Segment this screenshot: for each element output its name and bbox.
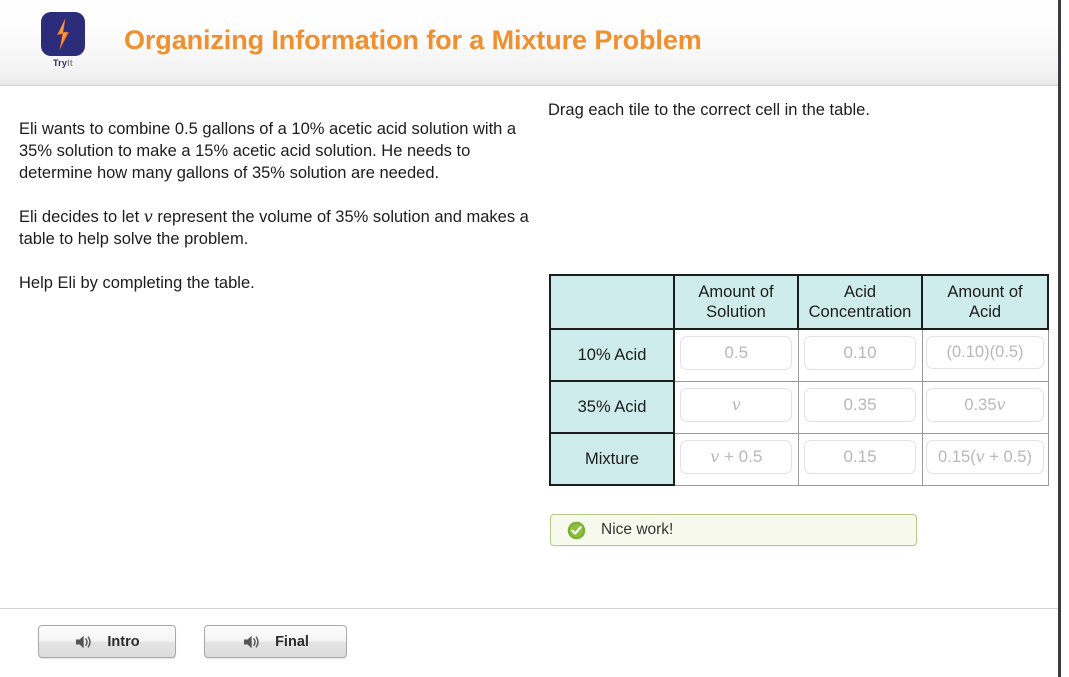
header-line-1: Amount of xyxy=(923,282,1047,302)
row-label-35-acid: 35% Acid xyxy=(550,381,674,433)
drop-cell-r0c1[interactable]: 0.10 xyxy=(798,329,922,381)
paragraph-2-text-a: Eli decides to let xyxy=(19,208,144,226)
intro-audio-button[interactable]: Intro xyxy=(38,625,176,658)
lightning-bolt-icon xyxy=(41,12,85,56)
tile-r0c2[interactable]: (0.10)(0.5) xyxy=(926,336,1044,369)
tile-r1c1[interactable]: 0.35 xyxy=(804,388,916,422)
speaker-icon xyxy=(74,633,96,651)
table-row: 35% Acid v 0.35 0.35v xyxy=(550,381,1048,433)
variable-v: v xyxy=(144,207,153,226)
problem-statement: Eli wants to combine 0.5 gallons of a 10… xyxy=(19,118,529,294)
drop-cell-r0c0[interactable]: 0.5 xyxy=(674,329,798,381)
header-cell-acid-concentration: Acid Concentration xyxy=(798,275,922,329)
page-header: TryIt Organizing Information for a Mixtu… xyxy=(0,0,1058,86)
check-circle-icon xyxy=(567,521,586,540)
header-line-1: Amount of xyxy=(675,282,797,302)
header-cell-blank xyxy=(550,275,674,329)
tile-r0c1[interactable]: 0.10 xyxy=(804,336,916,370)
table-row: Mixture v + 0.5 0.15 0.15(v + 0.5) xyxy=(550,433,1048,485)
row-label-10-acid: 10% Acid xyxy=(550,329,674,381)
logo-caption-try: Try xyxy=(53,58,67,68)
tile-r1c2[interactable]: 0.35v xyxy=(926,388,1044,422)
feedback-message: Nice work! xyxy=(601,521,673,539)
logo-caption-it: It xyxy=(67,58,73,68)
drop-cell-r0c2[interactable]: (0.10)(0.5) xyxy=(922,329,1048,381)
try-it-logo: TryIt xyxy=(39,12,87,68)
footer-divider xyxy=(0,608,1058,609)
intro-button-label: Intro xyxy=(107,634,139,650)
drop-cell-r1c0[interactable]: v xyxy=(674,381,798,433)
row-label-mixture: Mixture xyxy=(550,433,674,485)
tile-r0c0[interactable]: 0.5 xyxy=(680,336,792,370)
final-audio-button[interactable]: Final xyxy=(204,625,347,658)
header-line-2: Solution xyxy=(675,302,797,322)
drop-cell-r2c2[interactable]: 0.15(v + 0.5) xyxy=(922,433,1048,485)
problem-paragraph-3: Help Eli by completing the table. xyxy=(19,272,529,294)
tile-r1c0[interactable]: v xyxy=(680,388,792,422)
header-cell-amount-of-acid: Amount of Acid xyxy=(922,275,1048,329)
problem-paragraph-1: Eli wants to combine 0.5 gallons of a 10… xyxy=(19,118,529,184)
tile-r2c1[interactable]: 0.15 xyxy=(804,440,916,474)
header-line-2: Concentration xyxy=(799,302,921,322)
tile-r2c2[interactable]: 0.15(v + 0.5) xyxy=(926,440,1044,474)
feedback-banner: Nice work! xyxy=(550,514,917,546)
mixture-table: Amount of Solution Acid Concentration Am… xyxy=(549,274,1049,486)
table-row: 10% Acid 0.5 0.10 (0.10)(0.5) xyxy=(550,329,1048,381)
header-cell-amount-of-solution: Amount of Solution xyxy=(674,275,798,329)
tile-r2c0[interactable]: v + 0.5 xyxy=(680,440,792,474)
table-header-row: Amount of Solution Acid Concentration Am… xyxy=(550,275,1048,329)
drop-cell-r1c1[interactable]: 0.35 xyxy=(798,381,922,433)
page-title: Organizing Information for a Mixture Pro… xyxy=(124,25,702,56)
final-button-label: Final xyxy=(275,634,309,650)
header-line-1: Acid xyxy=(799,282,921,302)
logo-caption: TryIt xyxy=(39,58,87,68)
drop-cell-r2c0[interactable]: v + 0.5 xyxy=(674,433,798,485)
activity-page: TryIt Organizing Information for a Mixtu… xyxy=(0,0,1061,677)
speaker-icon xyxy=(242,633,264,651)
drag-instruction: Drag each tile to the correct cell in th… xyxy=(548,101,870,120)
problem-paragraph-2: Eli decides to let v represent the volum… xyxy=(19,206,529,250)
header-line-2: Acid xyxy=(923,302,1047,322)
drop-cell-r2c1[interactable]: 0.15 xyxy=(798,433,922,485)
drop-cell-r1c2[interactable]: 0.35v xyxy=(922,381,1048,433)
